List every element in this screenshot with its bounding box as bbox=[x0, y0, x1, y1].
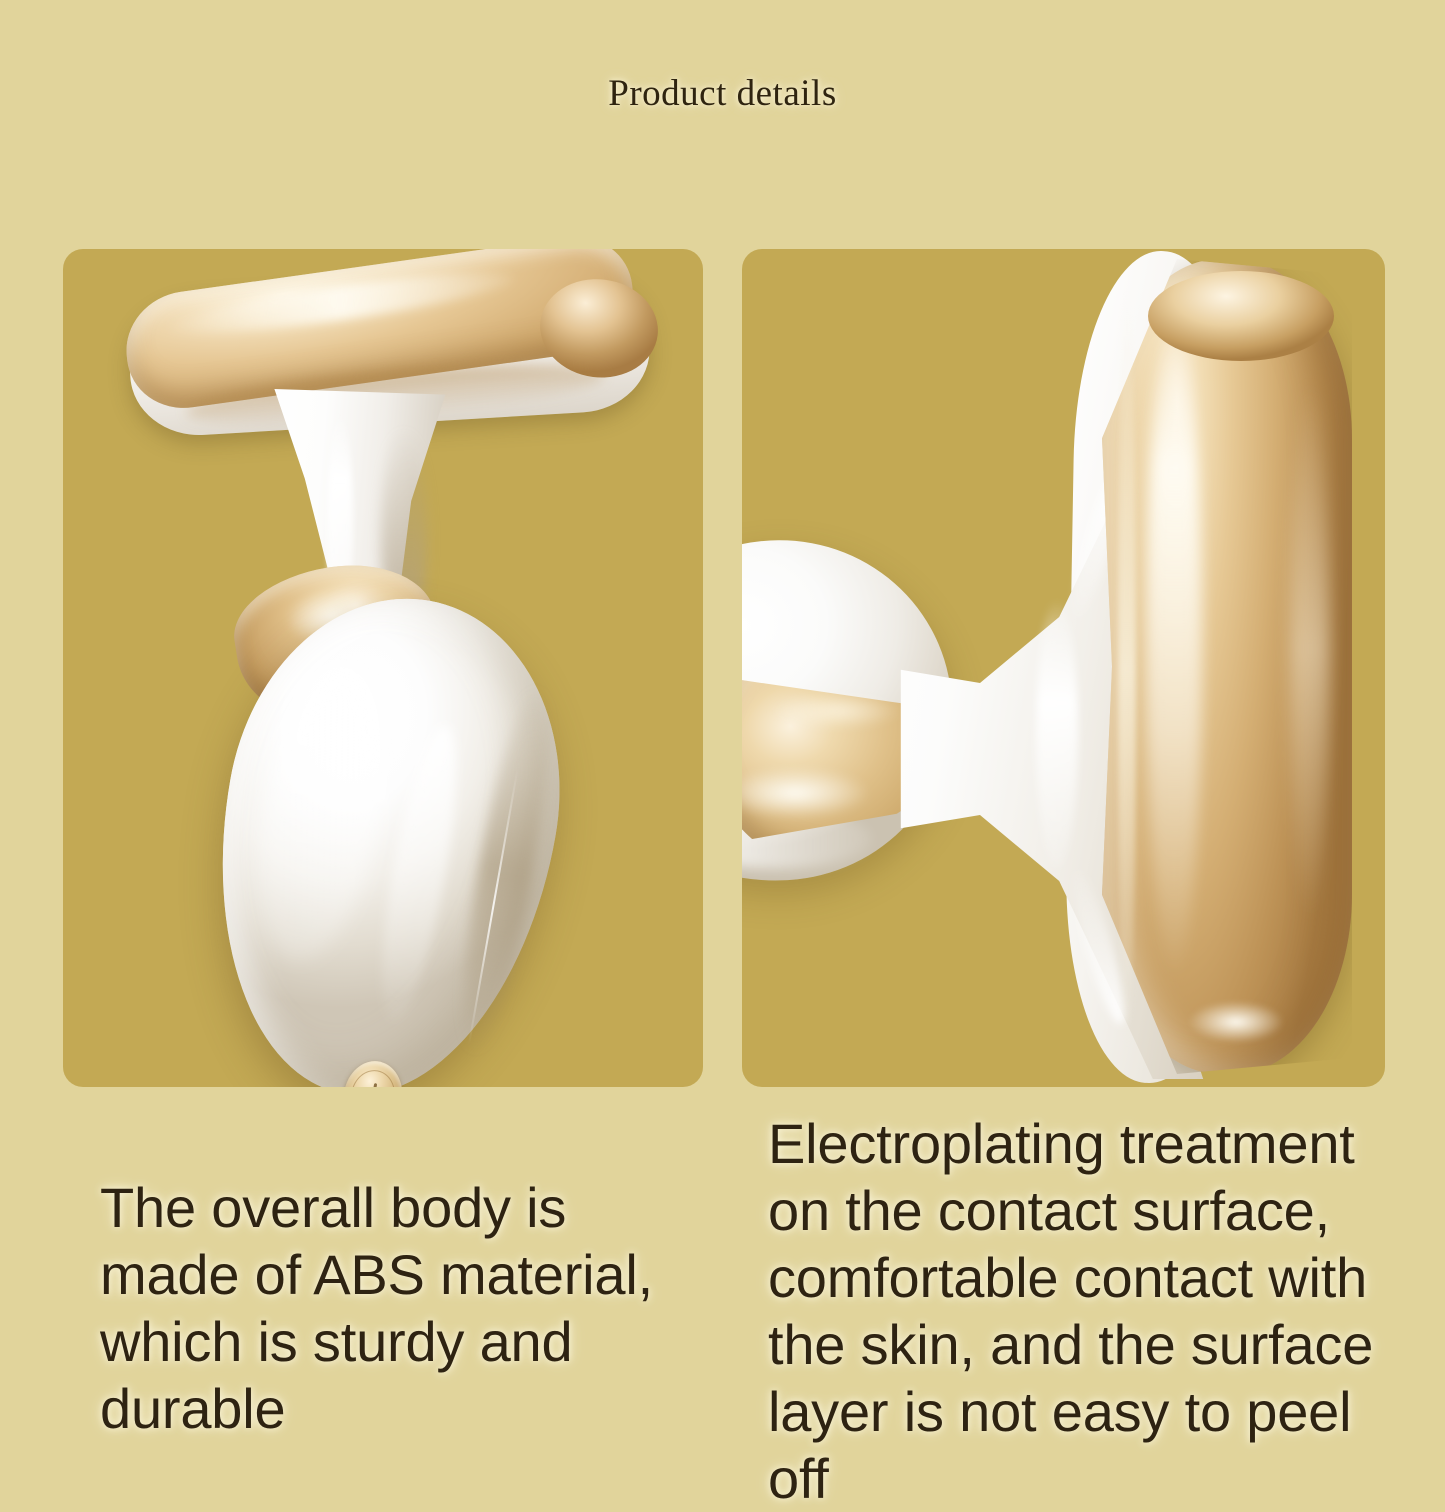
panel-right-inner bbox=[742, 249, 1385, 1087]
product-image-panel-right bbox=[742, 249, 1385, 1087]
caption-left: The overall body is made of ABS material… bbox=[100, 1174, 720, 1442]
panel-left-inner bbox=[63, 249, 703, 1087]
massager-device-closeup-view bbox=[742, 249, 1385, 1087]
page-title: Product details bbox=[0, 72, 1445, 115]
product-image-panel-left bbox=[63, 249, 703, 1087]
electroplated-contact-plate-top-tip bbox=[1148, 271, 1334, 361]
electroplated-contact-plate-bottom-gloss bbox=[1188, 1001, 1284, 1043]
electroplated-contact-plate-edge bbox=[1118, 289, 1136, 1049]
closeup-white-neck-highlight bbox=[1036, 599, 1078, 869]
massager-device-full-view bbox=[63, 249, 703, 1087]
electroplated-contact-plate-highlight bbox=[1146, 319, 1202, 979]
electroplated-contact-plate bbox=[1102, 259, 1352, 1074]
caption-right: Electroplating treatment on the contact … bbox=[768, 1110, 1383, 1512]
electroplated-contact-plate-highlight-right bbox=[1290, 379, 1330, 919]
power-icon bbox=[359, 1082, 388, 1087]
